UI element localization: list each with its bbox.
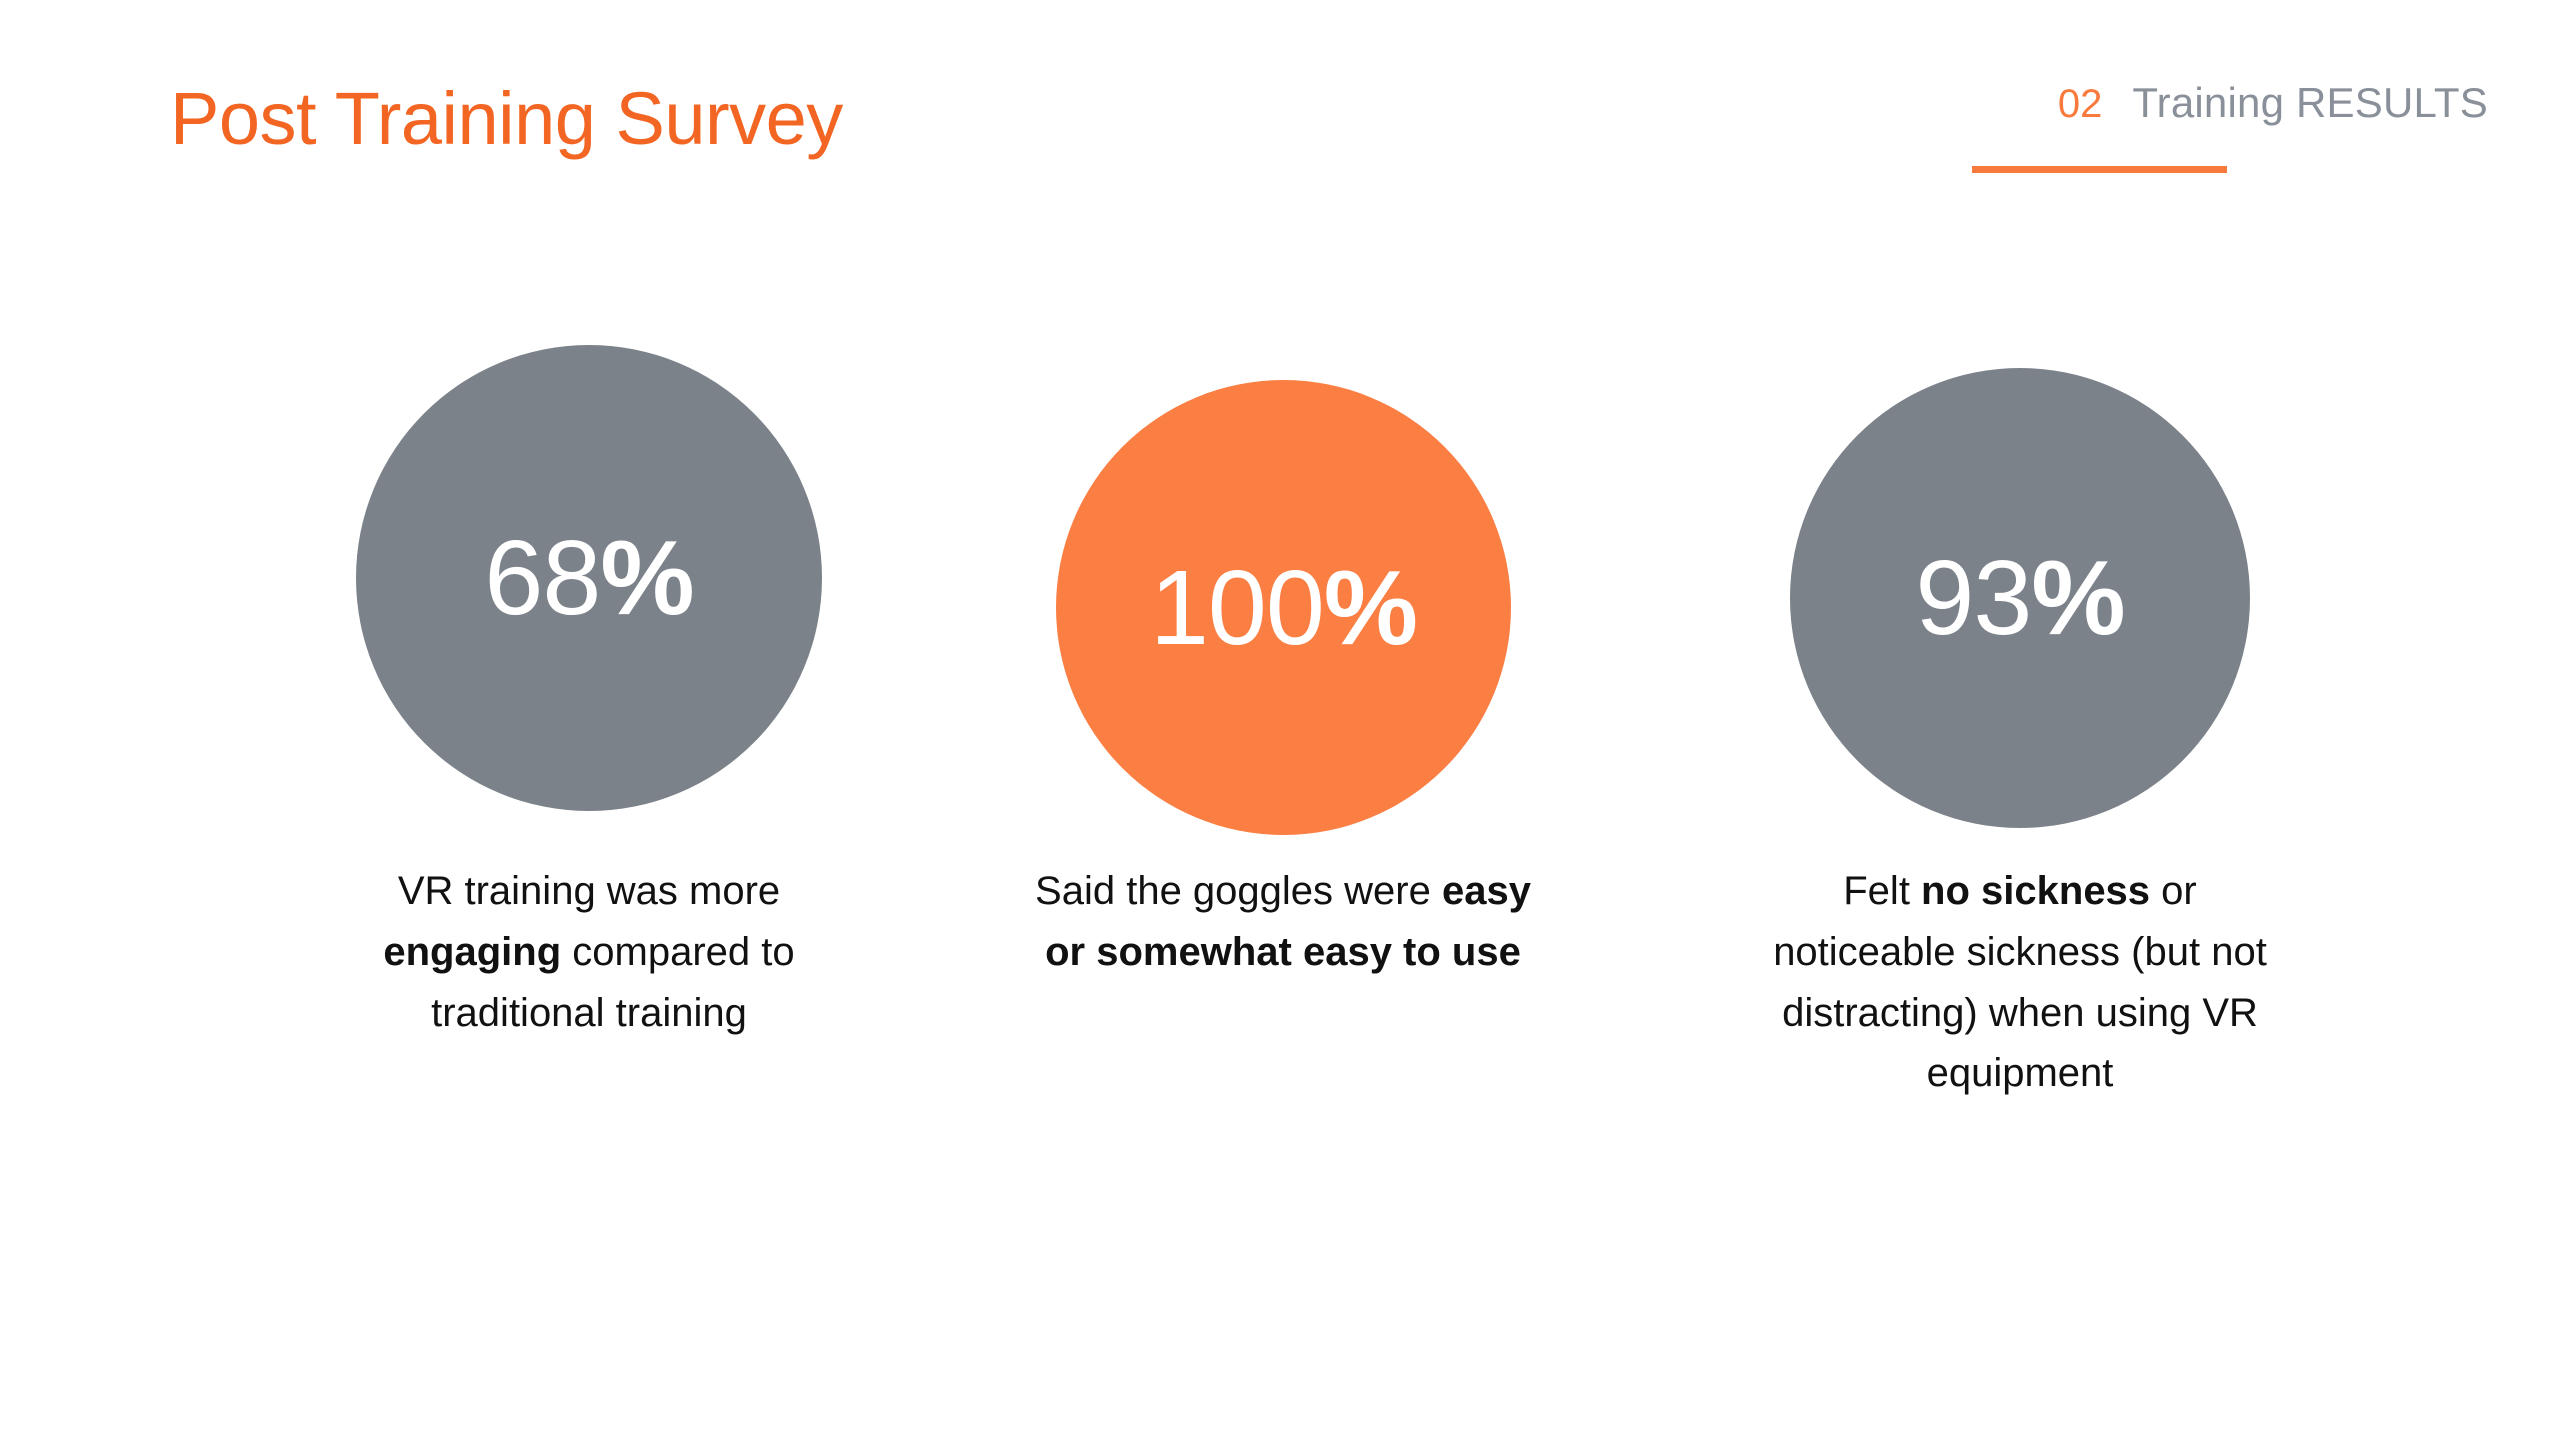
slide-canvas: Post Training Survey 02 Training RESULTS… <box>0 0 2560 1440</box>
stat-bubble-group: 68% VR training was more engaging compar… <box>0 0 2560 1440</box>
stat-value-1: 68 <box>484 525 600 631</box>
stat-bubble-3: 93% <box>1790 368 2250 828</box>
stat-value-3: 93 <box>1915 545 2031 651</box>
stat-bubble-1: 68% <box>356 345 822 811</box>
stat-caption-3: Felt no sickness or noticeable sickness … <box>1750 861 2290 1104</box>
stat-percent-symbol-1: % <box>600 525 693 631</box>
stat-value-2: 100 <box>1150 555 1324 661</box>
stat-percent-symbol-2: % <box>1324 555 1417 661</box>
stat-percent-symbol-3: % <box>2031 545 2124 651</box>
stat-caption-1: VR training was more engaging compared t… <box>319 861 859 1043</box>
stat-bubble-2: 100% <box>1056 380 1511 835</box>
stat-caption-2: Said the goggles were easy or somewhat e… <box>1013 861 1553 983</box>
